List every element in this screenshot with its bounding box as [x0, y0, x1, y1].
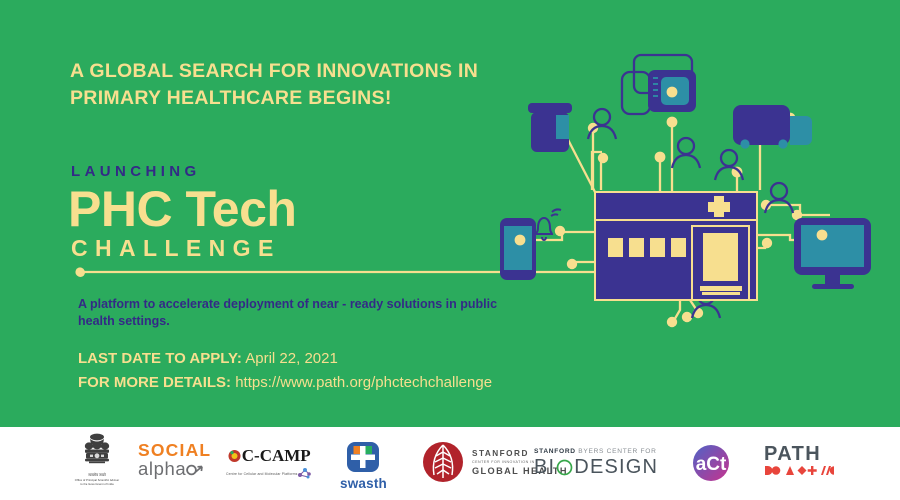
- act-grants-icon: aCt: [692, 444, 730, 482]
- desktop-monitor-icon: [794, 218, 871, 289]
- logo-social-alpha: SOCIAL alpha: [138, 442, 211, 479]
- description-text: A platform to accelerate deployment of n…: [78, 296, 508, 330]
- ambulance-van-icon: [733, 105, 812, 149]
- logo-path: PATH: [764, 444, 834, 476]
- biodesign-wordmark: BI DESIGN: [534, 456, 658, 478]
- emblem-caption-line2: to the Government of India: [62, 483, 132, 486]
- emblem-motto: सत्यमेव जयते: [88, 473, 106, 478]
- logo-act-grants: aCt: [692, 444, 730, 482]
- path-wordmark: PATH: [764, 444, 821, 465]
- apply-deadline-label: LAST DATE TO APPLY:: [78, 350, 242, 367]
- swasth-name: swasth: [340, 476, 387, 491]
- biodesign-byers-center: BYERS CENTER FOR: [576, 448, 657, 455]
- c-camp-molecule-icon: [297, 466, 312, 479]
- svg-text:aCt: aCt: [696, 454, 727, 475]
- logo-swasth: swasth: [340, 441, 387, 491]
- logo-psa-india: सत्यमेव जयते Office of Principal Scienti…: [62, 432, 132, 487]
- c-camp-tagline: Centre for Cellular and Molecular Platfo…: [226, 472, 297, 476]
- emblem-caption-line1: Office of Principal Scientific Adviser: [62, 479, 132, 482]
- divider-line: [80, 271, 500, 273]
- launching-label: LAUNCHING: [71, 163, 201, 180]
- alpha-swoosh-icon: [186, 462, 203, 476]
- smartphone-icon: [500, 218, 536, 280]
- c-camp-mark-icon: [228, 449, 241, 463]
- c-camp-main: C-CAMP: [228, 446, 311, 466]
- biodesign-stanford-word: STANFORD: [534, 448, 576, 455]
- biodesign-green-o-icon: [556, 459, 573, 476]
- medicine-jar-icon: [528, 103, 572, 152]
- biodesign-word-b: DESIGN: [574, 456, 658, 478]
- tablet-device-icon: [622, 55, 696, 114]
- apply-deadline: LAST DATE TO APPLY: April 22, 2021: [78, 347, 338, 371]
- headline: A GLOBAL SEARCH FOR INNOVATIONS IN PRIMA…: [70, 58, 490, 112]
- clinic-building-icon: [595, 192, 757, 300]
- c-camp-name: C-CAMP: [242, 446, 311, 466]
- social-alpha-word1: SOCIAL: [138, 442, 211, 459]
- apply-deadline-value: April 22, 2021: [245, 350, 338, 367]
- social-alpha-word2-text: alpha: [138, 459, 186, 479]
- promotional-banner: A GLOBAL SEARCH FOR INNOVATIONS IN PRIMA…: [0, 0, 900, 500]
- swasth-mark-icon: [344, 441, 382, 473]
- details-label: FOR MORE DETAILS:: [78, 374, 231, 391]
- logo-c-camp: C-CAMP Centre for Cellular and Molecular…: [226, 446, 312, 479]
- logo-stanford-biodesign: STANFORD BYERS CENTER FOR BI DESIGN: [534, 447, 658, 478]
- path-glyph-row-icon: [764, 465, 834, 476]
- page-subtitle: CHALLENGE: [71, 235, 281, 262]
- social-alpha-word2: alpha: [138, 459, 203, 479]
- biodesign-top-line: STANFORD BYERS CENTER FOR: [534, 447, 657, 456]
- india-emblem-icon: [80, 432, 114, 472]
- page-title: PHC Tech: [68, 182, 296, 236]
- stanford-tree-seal-icon: [422, 441, 464, 483]
- details-link-row[interactable]: FOR MORE DETAILS: https://www.path.org/p…: [78, 371, 492, 395]
- details-url[interactable]: https://www.path.org/phctechchallenge: [235, 374, 492, 391]
- biodesign-word-a: BI: [534, 456, 555, 478]
